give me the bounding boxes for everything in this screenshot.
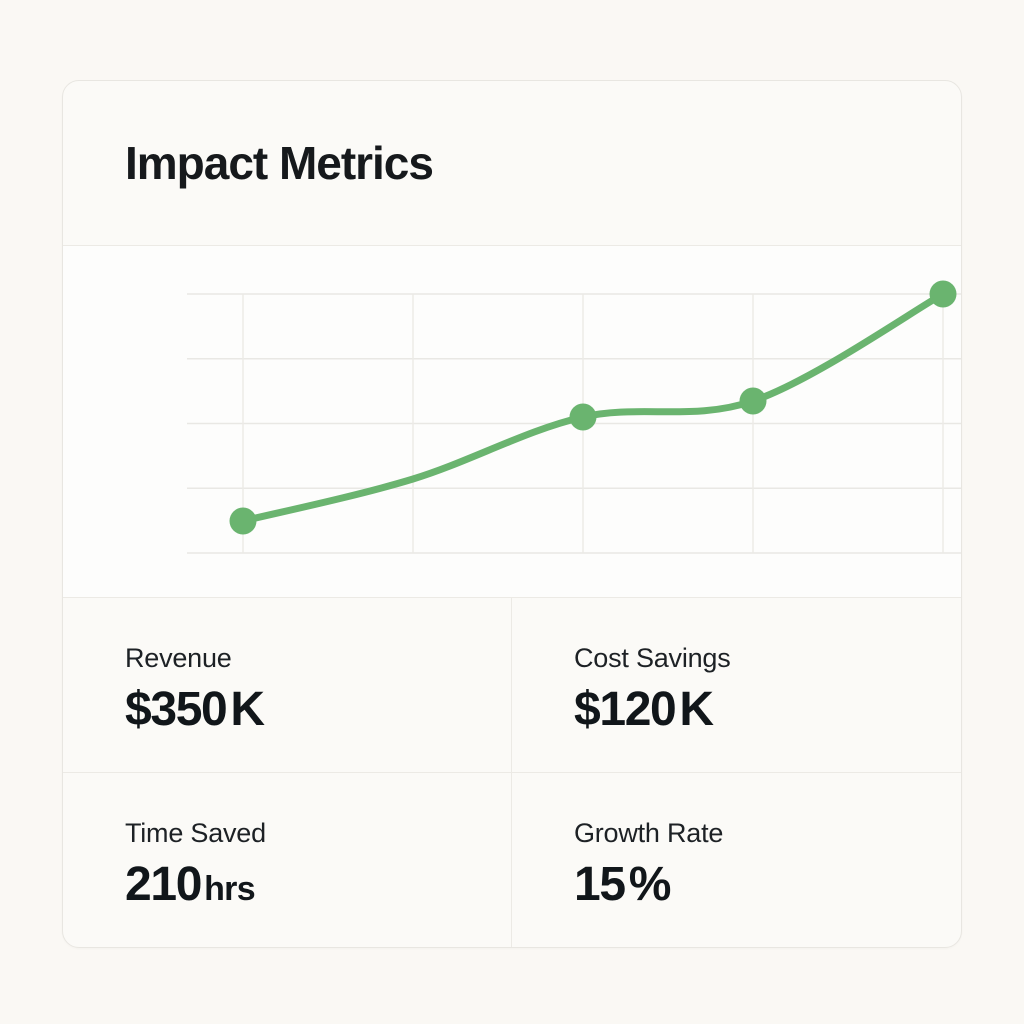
trend-data-point [740, 388, 767, 415]
page-title: Impact Metrics [125, 140, 433, 186]
stats-grid: Revenue $350K Cost Savings $120K Time Sa… [63, 598, 961, 947]
stat-cell-growth-rate: Growth Rate 15% [512, 773, 961, 948]
stat-number: $350 [125, 683, 226, 736]
trend-chart-svg [63, 246, 962, 598]
stat-number: $120 [574, 683, 675, 736]
trend-data-point [230, 508, 257, 535]
stat-unit: K [679, 683, 713, 736]
stat-cell-cost-savings: Cost Savings $120K [512, 598, 961, 773]
stat-unit: K [230, 683, 264, 736]
trend-data-point [570, 404, 597, 431]
stat-value: $350K [125, 682, 511, 737]
stat-label: Time Saved [125, 818, 511, 849]
stat-number: 210 [125, 858, 201, 911]
stat-cell-revenue: Revenue $350K [63, 598, 512, 773]
stat-value: $120K [574, 682, 961, 737]
trend-data-point [930, 281, 957, 308]
impact-metrics-card: Impact Metrics Revenue $350K Cost Saving… [62, 80, 962, 948]
card-header: Impact Metrics [63, 81, 961, 246]
stat-label: Revenue [125, 643, 511, 674]
stat-label: Cost Savings [574, 643, 961, 674]
trend-chart [63, 246, 961, 598]
stat-value: 210hrs [125, 857, 511, 912]
trend-line-path [243, 294, 943, 521]
stat-cell-time-saved: Time Saved 210hrs [63, 773, 512, 948]
stat-value: 15% [574, 857, 961, 912]
stat-label: Growth Rate [574, 818, 961, 849]
stat-unit: hrs [204, 870, 255, 908]
stat-unit: % [629, 858, 671, 911]
stat-number: 15 [574, 858, 625, 911]
